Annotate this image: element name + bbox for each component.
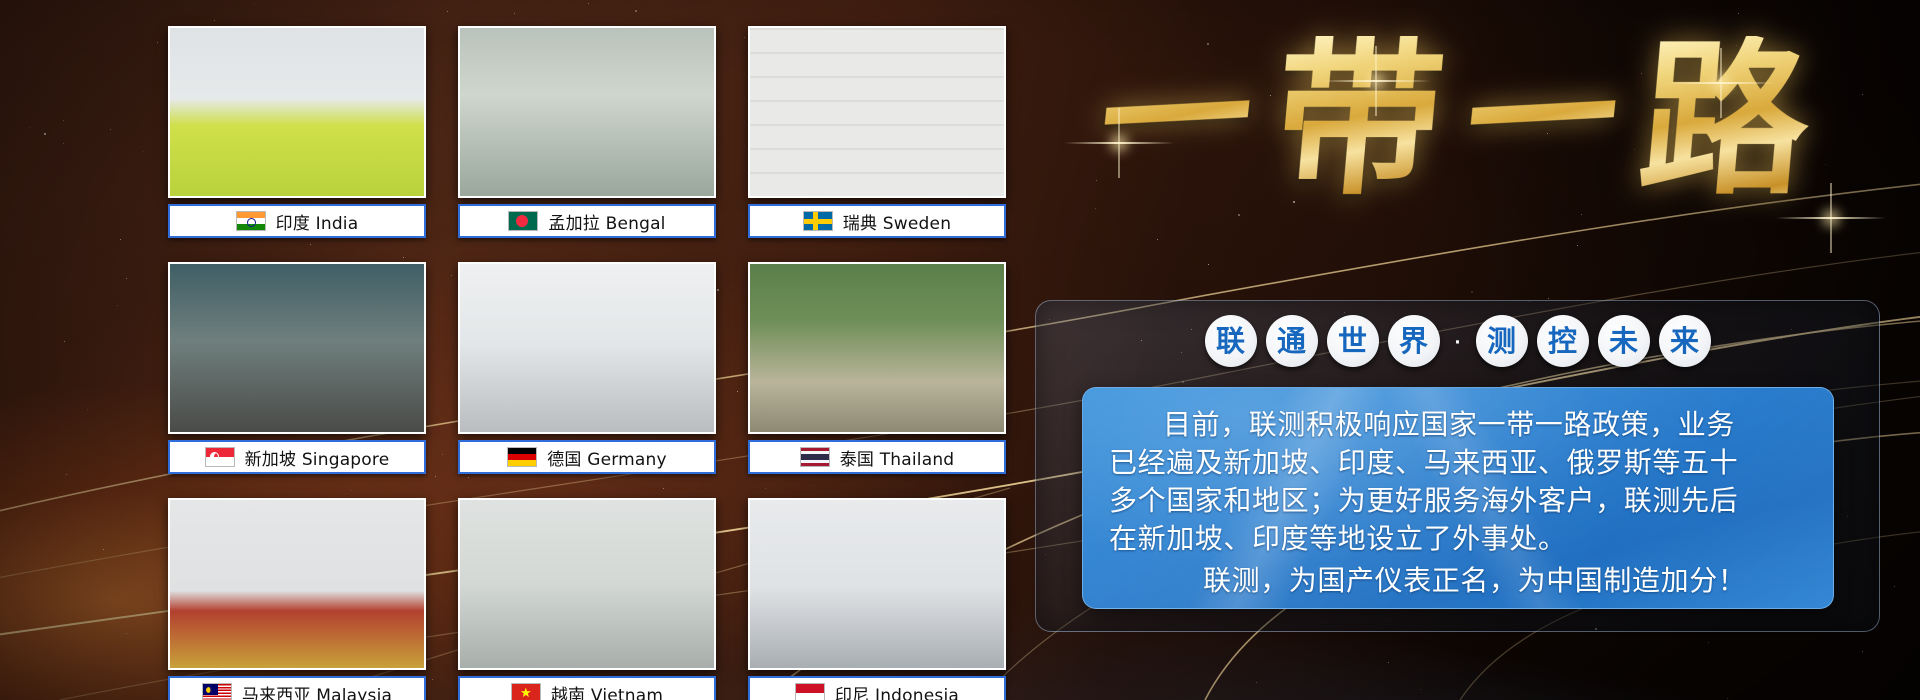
gallery-cell[interactable]: 孟加拉 Bengal xyxy=(458,26,716,238)
photo-artwork xyxy=(460,28,714,196)
country-caption[interactable]: 瑞典 Sweden xyxy=(748,204,1006,238)
country-caption[interactable]: 德国 Germany xyxy=(458,440,716,474)
sparkle-icon xyxy=(1118,142,1120,144)
country-photo xyxy=(458,498,716,670)
country-label: 越南 Vietnam xyxy=(551,681,663,700)
gallery-cell[interactable]: 新加坡 Singapore xyxy=(168,262,426,474)
country-photo xyxy=(168,262,426,434)
description-line: 目前，联测积极响应国家一带一路政策，业务 xyxy=(1109,406,1807,444)
headline-char: 一 xyxy=(1459,41,1626,199)
headline-belt-and-road: 一带一路 xyxy=(1030,12,1880,227)
description-line: 已经遍及新加坡、印度、马来西亚、俄罗斯等五十 xyxy=(1109,444,1807,482)
description-line: 在新加坡、印度等地设立了外事处。 xyxy=(1109,520,1807,558)
photo-artwork xyxy=(170,264,424,432)
sparkle-icon xyxy=(1375,80,1377,82)
country-photo xyxy=(458,26,716,198)
country-caption[interactable]: 新加坡 Singapore xyxy=(168,440,426,474)
gallery-cell[interactable]: 越南 Vietnam xyxy=(458,498,716,700)
slogan-char-badge: 来 xyxy=(1659,315,1711,367)
country-label: 马来西亚 Malaysia xyxy=(242,681,392,700)
gallery-cell[interactable]: 印度 India xyxy=(168,26,426,238)
country-label: 德国 Germany xyxy=(547,445,667,470)
gallery-cell[interactable]: 泰国 Thailand xyxy=(748,262,1006,474)
sparkle-icon xyxy=(1830,217,1832,219)
country-caption[interactable]: 马来西亚 Malaysia xyxy=(168,676,426,700)
slogan-char-badge: 控 xyxy=(1537,315,1589,367)
country-caption[interactable]: 泰国 Thailand xyxy=(748,440,1006,474)
slogan-char-badge: 测 xyxy=(1476,315,1528,367)
slogan-char-badge: 未 xyxy=(1598,315,1650,367)
country-caption[interactable]: 越南 Vietnam xyxy=(458,676,716,700)
country-photo-grid: 印度 India孟加拉 Bengal瑞典 Sweden新加坡 Singapore… xyxy=(168,26,1006,700)
photo-artwork xyxy=(460,500,714,668)
slogan-char: 世 xyxy=(1338,327,1367,356)
flag-vietnam-icon xyxy=(511,683,541,700)
slogan-separator: · xyxy=(1449,326,1467,356)
slogan-char: 来 xyxy=(1670,327,1699,356)
slogan-char: 联 xyxy=(1216,327,1245,356)
country-label: 印尼 Indonesia xyxy=(835,681,959,700)
slogan-char-badge: 世 xyxy=(1327,315,1379,367)
photo-artwork xyxy=(750,28,1004,196)
slogan-char: 控 xyxy=(1548,327,1577,356)
slogan-char: 测 xyxy=(1487,327,1516,356)
country-caption[interactable]: 印度 India xyxy=(168,204,426,238)
slogan-char: 通 xyxy=(1277,327,1306,356)
flag-bangladesh-icon xyxy=(508,211,538,231)
gallery-cell[interactable]: 印尼 Indonesia xyxy=(748,498,1006,700)
gallery-cell[interactable]: 德国 Germany xyxy=(458,262,716,474)
banner-stage: 印度 India孟加拉 Bengal瑞典 Sweden新加坡 Singapore… xyxy=(0,0,1920,700)
photo-artwork xyxy=(460,264,714,432)
country-label: 瑞典 Sweden xyxy=(843,209,951,234)
company-slogan: 联通世界·测控未来 xyxy=(1036,315,1879,367)
country-label: 孟加拉 Bengal xyxy=(548,209,665,234)
country-photo xyxy=(168,498,426,670)
flag-malaysia-icon xyxy=(202,683,232,700)
country-label: 新加坡 Singapore xyxy=(245,445,390,470)
flag-singapore-icon xyxy=(205,447,235,467)
country-photo xyxy=(168,26,426,198)
gallery-cell[interactable]: 马来西亚 Malaysia xyxy=(168,498,426,700)
country-photo xyxy=(748,26,1006,198)
description-line: 联测，为国产仪表正名，为中国制造加分！ xyxy=(1109,562,1807,600)
slogan-char: 界 xyxy=(1399,327,1428,356)
slogan-char-badge: 联 xyxy=(1205,315,1257,367)
flag-indonesia-icon xyxy=(795,683,825,700)
country-photo xyxy=(748,498,1006,670)
slogan-char: 未 xyxy=(1609,327,1638,356)
headline-char: 路 xyxy=(1634,36,1817,204)
country-photo xyxy=(748,262,1006,434)
photo-artwork xyxy=(750,500,1004,668)
headline-char: 带 xyxy=(1268,36,1451,204)
country-caption[interactable]: 孟加拉 Bengal xyxy=(458,204,716,238)
country-label: 泰国 Thailand xyxy=(840,445,955,470)
slogan-char-badge: 界 xyxy=(1388,315,1440,367)
sparkle-icon xyxy=(1720,82,1722,84)
company-description-card: 目前，联测积极响应国家一带一路政策，业务已经遍及新加坡、印度、马来西亚、俄罗斯等… xyxy=(1082,387,1834,609)
photo-artwork xyxy=(170,28,424,196)
flag-india-icon xyxy=(236,211,266,231)
description-line: 多个国家和地区；为更好服务海外客户，联测先后 xyxy=(1109,482,1807,520)
photo-artwork xyxy=(750,264,1004,432)
slogan-char-badge: 通 xyxy=(1266,315,1318,367)
info-panel: 联通世界·测控未来 目前，联测积极响应国家一带一路政策，业务已经遍及新加坡、印度… xyxy=(1035,300,1880,632)
flag-thailand-icon xyxy=(800,447,830,467)
country-label: 印度 India xyxy=(276,209,359,234)
gallery-cell[interactable]: 瑞典 Sweden xyxy=(748,26,1006,238)
flag-sweden-icon xyxy=(803,211,833,231)
country-caption[interactable]: 印尼 Indonesia xyxy=(748,676,1006,700)
flag-germany-icon xyxy=(507,447,537,467)
country-photo xyxy=(458,262,716,434)
photo-artwork xyxy=(170,500,424,668)
